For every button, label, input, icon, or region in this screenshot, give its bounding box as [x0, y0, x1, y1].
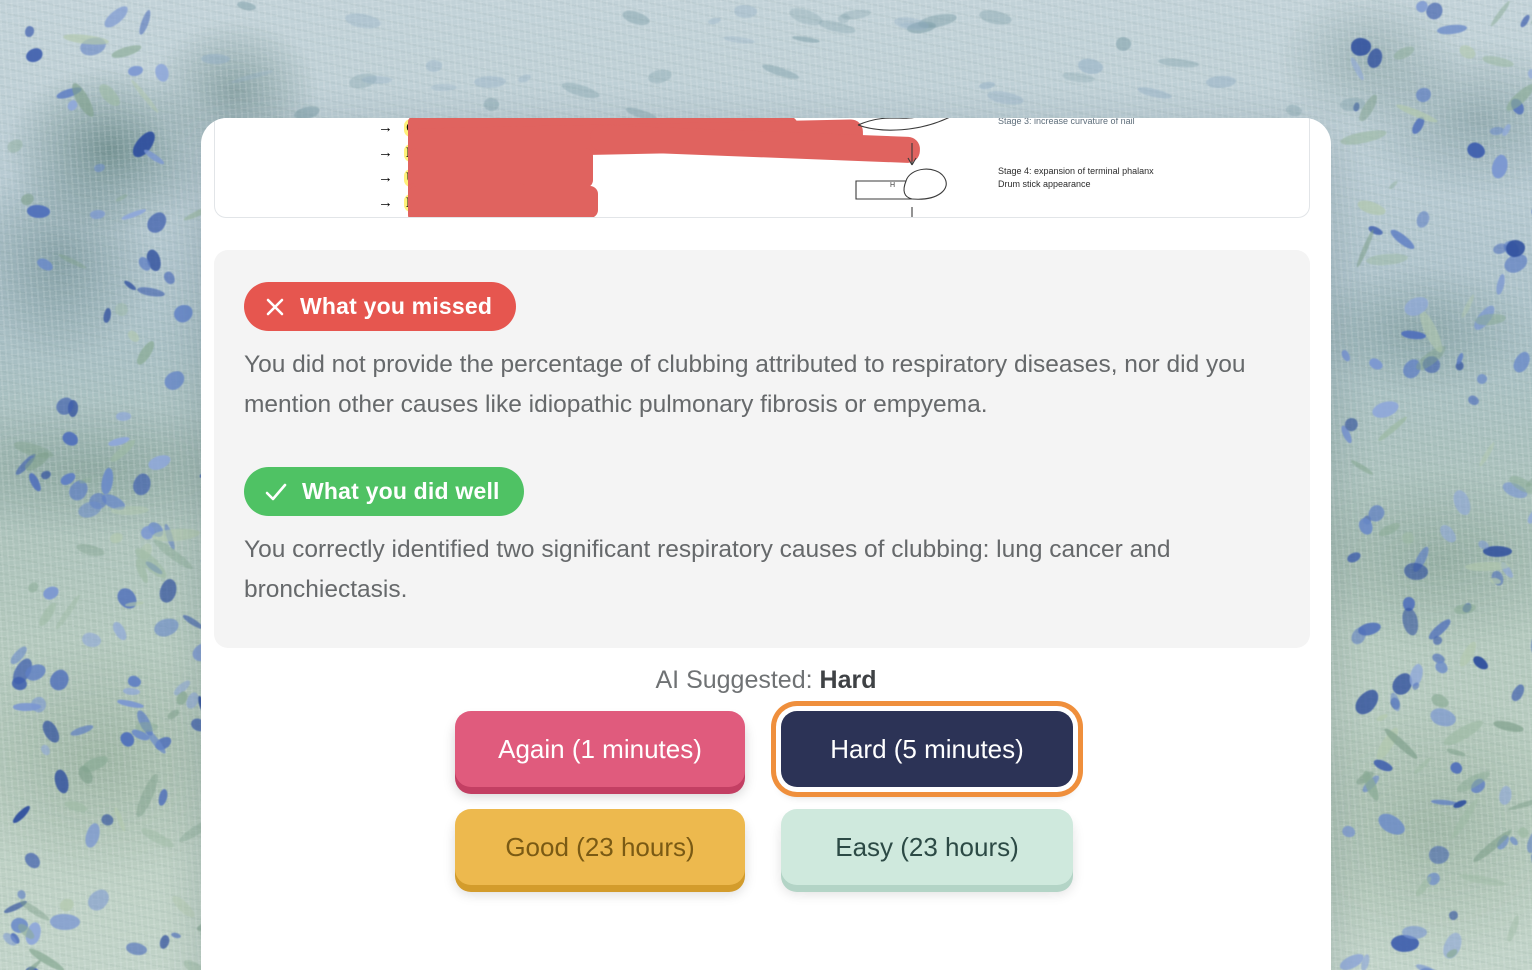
what-you-did-well-badge: What you did well [244, 467, 524, 516]
review-card: →C→L→U→Br→B [201, 118, 1331, 970]
what-you-missed-badge: What you missed [244, 282, 516, 331]
arrow-icon: → [378, 195, 404, 212]
what-you-did-well-text: You correctly identified two significant… [244, 530, 1279, 610]
stage4-caption-line2: Drum stick appearance [998, 178, 1091, 190]
stage4-caption-line1: Stage 4: expansion of terminal phalanx [998, 165, 1154, 177]
rating-button-hard[interactable]: Hard (5 minutes) [781, 711, 1073, 787]
ai-suggestion-prefix: AI Suggested: [656, 666, 813, 694]
what-you-did-well-label: What you did well [302, 478, 500, 505]
what-you-missed-label: What you missed [300, 293, 492, 320]
slide-image: →C→L→U→Br→B [260, 118, 1270, 218]
rating-button-grid: Again (1 minutes) Hard (5 minutes) Good … [201, 711, 1331, 885]
question-image-panel[interactable]: →C→L→U→Br→B [214, 118, 1310, 218]
arrow-icon: → [378, 120, 404, 137]
rating-button-again[interactable]: Again (1 minutes) [455, 711, 745, 787]
check-icon [264, 481, 288, 503]
redaction-mark [408, 186, 598, 218]
stage3-caption: Stage 3: increase curvature of nail [998, 118, 1135, 127]
ai-suggestion: AI Suggested: Hard [201, 666, 1331, 695]
what-you-missed-text: You did not provide the percentage of cl… [244, 345, 1279, 425]
x-icon [264, 296, 286, 318]
clubbing-stage-diagram: H Stage 3: increase curvature of nail St… [850, 118, 1270, 218]
rating-button-easy[interactable]: Easy (23 hours) [781, 809, 1073, 885]
rating-section: AI Suggested: Hard Again (1 minutes) Har… [201, 666, 1331, 885]
feedback-panel[interactable]: What you missed You did not provide the … [214, 250, 1310, 648]
diagram-angle-label: H [890, 182, 895, 189]
app-root: →C→L→U→Br→B [0, 0, 1532, 970]
redaction-mark [408, 148, 593, 188]
ai-suggestion-value: Hard [820, 666, 877, 694]
arrow-icon: → [378, 145, 404, 162]
rating-button-good[interactable]: Good (23 hours) [455, 809, 745, 885]
arrow-icon: → [378, 170, 404, 187]
